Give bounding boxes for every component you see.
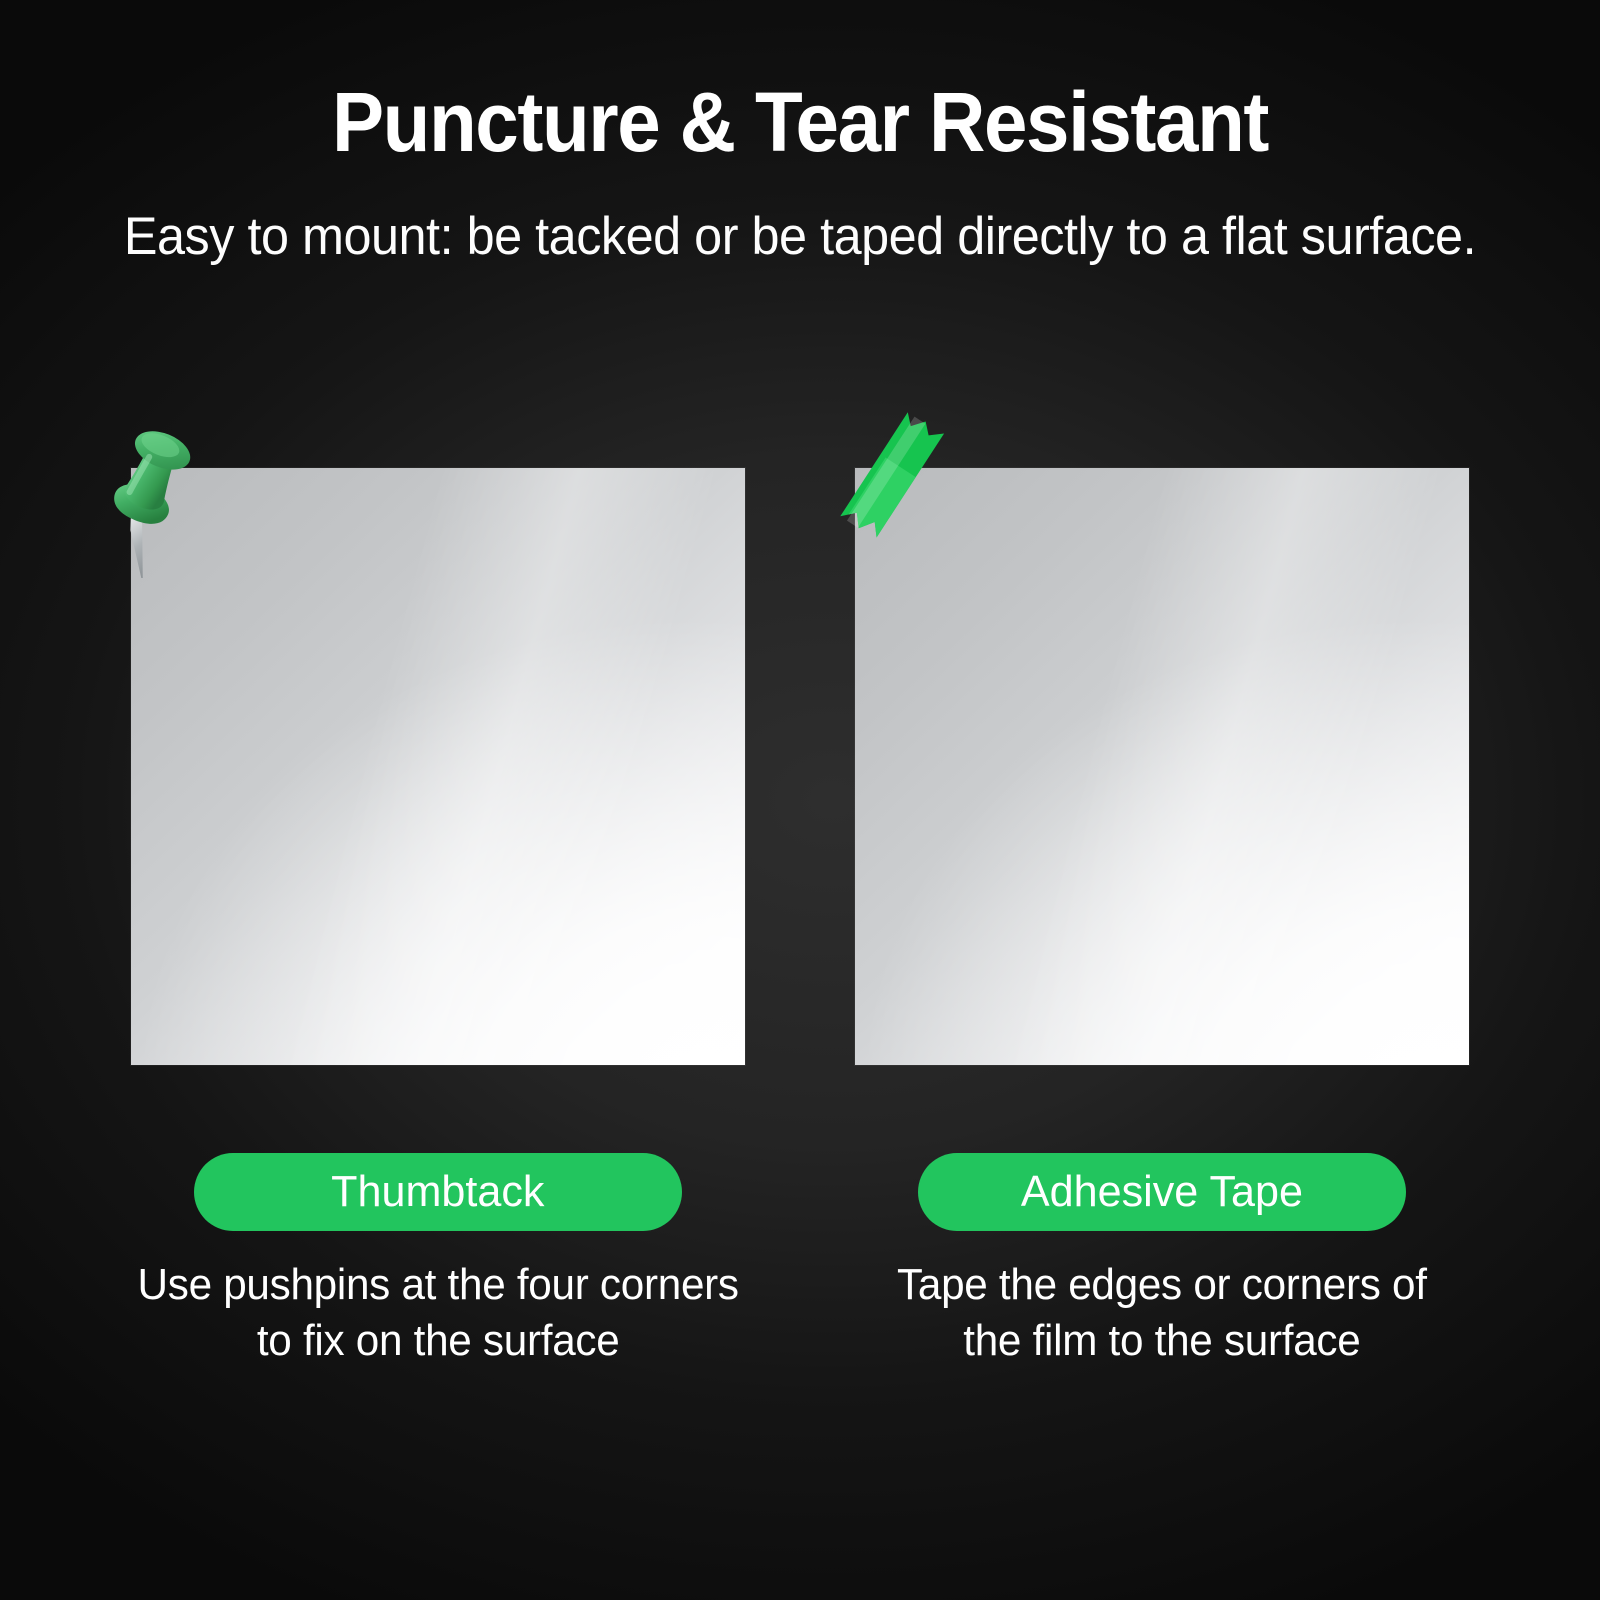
badge-label: Thumbtack bbox=[331, 1170, 544, 1214]
badge-adhesive-tape[interactable]: Adhesive Tape bbox=[918, 1153, 1406, 1231]
caption-adhesive-tape: Tape the edges or corners of the film to… bbox=[897, 1257, 1427, 1370]
page-subtitle: Easy to mount: be tacked or be taped dir… bbox=[40, 208, 1560, 266]
method-card-thumbtack: Thumbtack Use pushpins at the four corne… bbox=[124, 440, 752, 1370]
header: Puncture & Tear Resistant Easy to mount:… bbox=[0, 78, 1600, 266]
mounting-methods-row: Thumbtack Use pushpins at the four corne… bbox=[0, 440, 1600, 1370]
infographic-stage: Puncture & Tear Resistant Easy to mount:… bbox=[0, 0, 1600, 1600]
protective-film-panel bbox=[855, 468, 1469, 1065]
film-sheet-tape bbox=[855, 440, 1469, 1065]
method-card-adhesive-tape: Adhesive Tape Tape the edges or corners … bbox=[848, 440, 1476, 1370]
page-title: Puncture & Tear Resistant bbox=[56, 78, 1544, 166]
film-sheet-thumbtack bbox=[131, 440, 745, 1065]
film-sheen-overlay bbox=[855, 468, 1469, 1065]
film-sheen-overlay bbox=[131, 468, 745, 1065]
protective-film-panel bbox=[131, 468, 745, 1065]
caption-thumbtack: Use pushpins at the four corners to fix … bbox=[137, 1257, 738, 1370]
badge-thumbtack[interactable]: Thumbtack bbox=[194, 1153, 682, 1231]
badge-label: Adhesive Tape bbox=[1021, 1170, 1303, 1214]
